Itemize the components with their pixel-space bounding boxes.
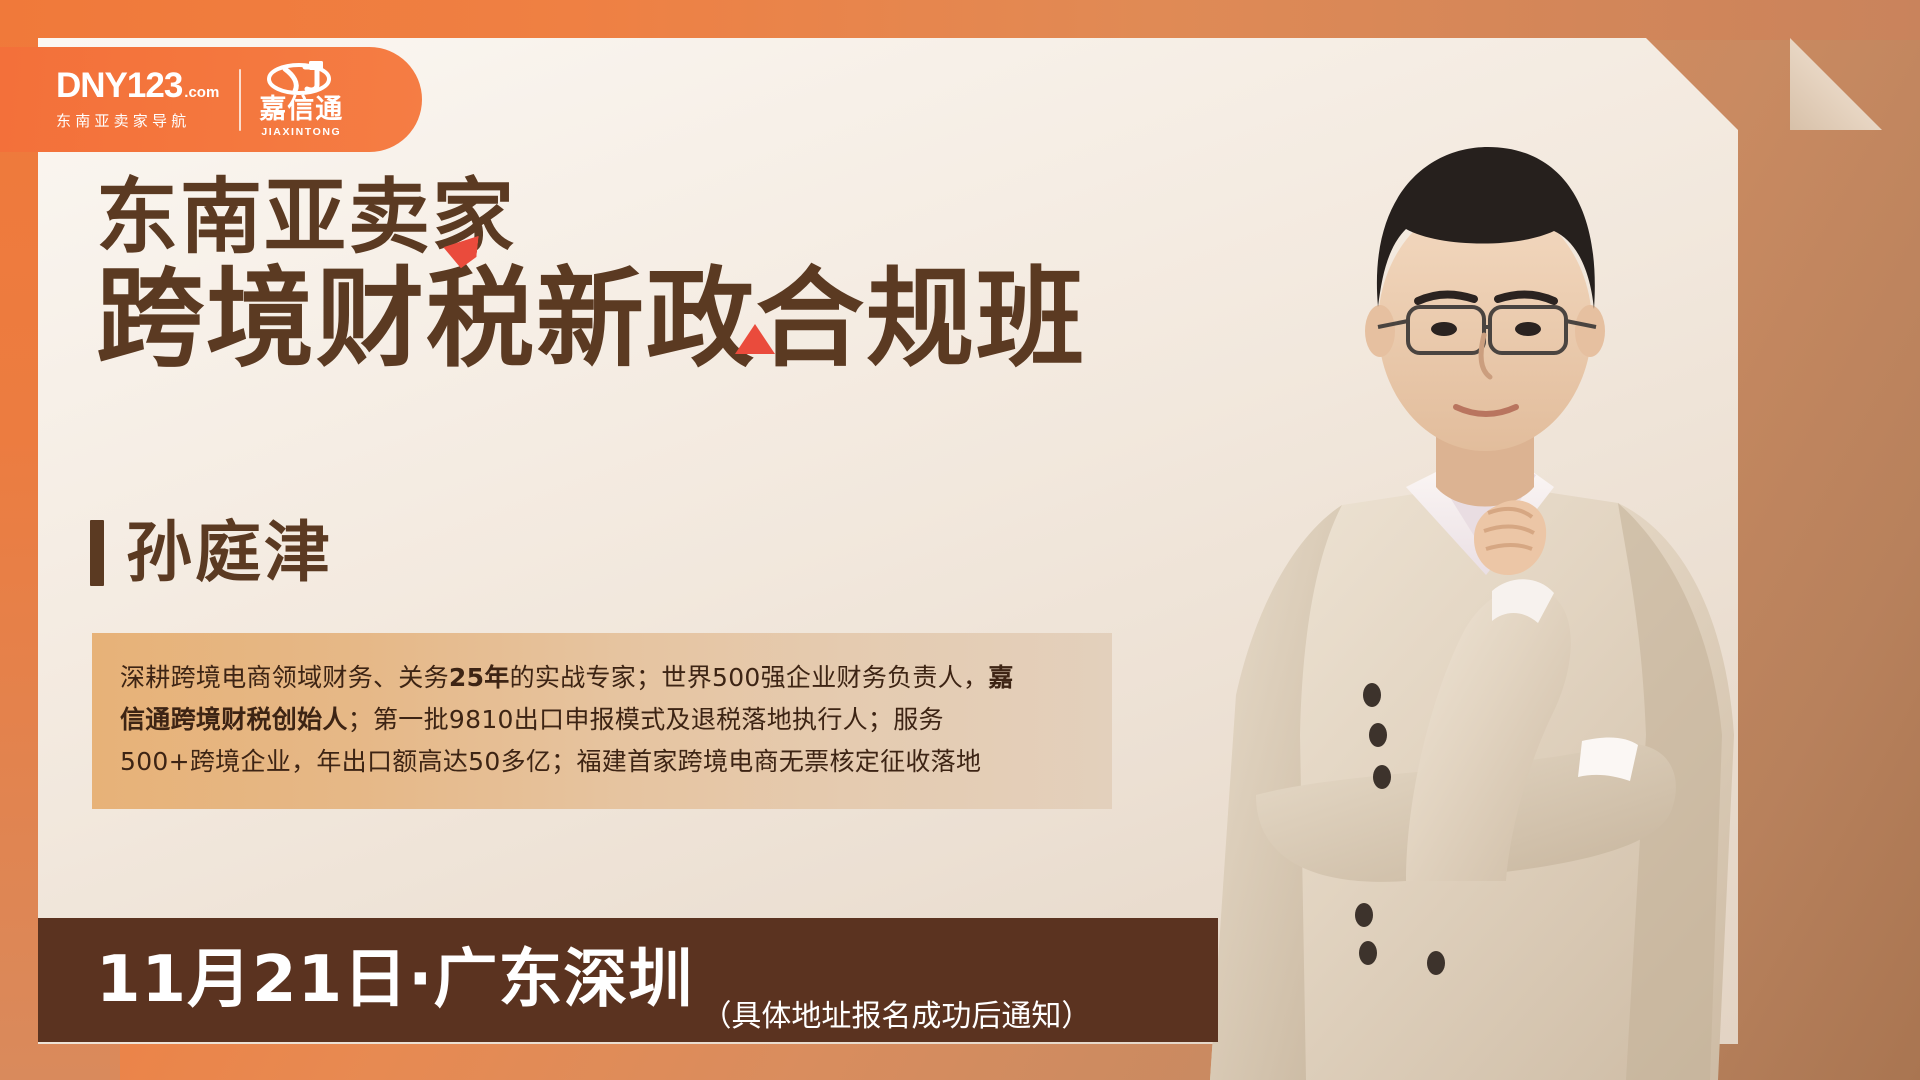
brand-logo-badge[interactable]: DNY123.com 东南亚卖家导航 嘉信通 JIAXINTONG [0, 47, 422, 152]
headline-line-1: 东南亚卖家 [96, 176, 1086, 258]
bio-line-1: 深耕跨境电商领域财务、关务25年的实战专家；世界500强企业财务负责人，嘉 [120, 657, 1084, 699]
jiaxintong-logo: 嘉信通 JIAXINTONG [259, 61, 343, 138]
jiaxintong-mark-icon [265, 61, 337, 95]
dny123-name: DNY123 [56, 68, 182, 103]
headline-line-2-text: 跨境财税新政合规班 [96, 256, 1086, 382]
bio-line-3: 500+跨境企业，年出口额高达50多亿；福建首家跨境电商无票核定征收落地 [120, 741, 1084, 783]
bio-1d-highlight: 嘉 [988, 663, 1013, 692]
speaker-bio-box: 深耕跨境电商领域财务、关务25年的实战专家；世界500强企业财务负责人，嘉 信通… [92, 633, 1112, 809]
jiaxintong-pinyin: JIAXINTONG [261, 126, 341, 138]
folded-corner-decoration [1790, 38, 1882, 130]
dny123-logo: DNY123.com 东南亚卖家导航 [56, 68, 219, 131]
bio-2b: ；第一批9810出口申报模式及退税落地执行人；服务 [348, 705, 944, 734]
dny123-tagline: 东南亚卖家导航 [56, 110, 219, 131]
bio-1c: 的实战专家；世界500强企业财务负责人， [510, 663, 989, 692]
speaker-accent-bar [90, 520, 104, 586]
speaker-name-group: 孙庭津 [90, 520, 333, 586]
headline-group: 东南亚卖家 跨境财税新政合规班 [96, 176, 1086, 376]
jiaxintong-name: 嘉信通 [259, 96, 343, 123]
dny123-domain-suffix: .com [184, 85, 219, 100]
dny123-wordmark: DNY123.com [56, 68, 219, 103]
bio-1b-highlight: 25年 [449, 663, 510, 692]
promo-banner: DNY123.com 东南亚卖家导航 嘉信通 JIAXINTONG 东南亚卖家 [0, 0, 1920, 1080]
bio-line-2: 信通跨境财税创始人；第一批9810出口申报模式及退税落地执行人；服务 [120, 699, 1084, 741]
bio-1a: 深耕跨境电商领域财务、关务 [120, 663, 449, 692]
bio-3: 500+跨境企业，年出口额高达50多亿；福建首家跨境电商无票核定征收落地 [120, 747, 981, 776]
top-orange-band [0, 0, 1920, 40]
logo-divider [239, 69, 241, 131]
speaker-name: 孙庭津 [126, 520, 333, 586]
bio-2a-highlight: 信通跨境财税创始人 [120, 705, 348, 734]
event-address-note: （具体地址报名成功后通知） [701, 1002, 1091, 1032]
event-date-bar: 11月21日·广东深圳 （具体地址报名成功后通知） [38, 918, 1218, 1042]
headline-line-2: 跨境财税新政合规班 [96, 262, 1086, 376]
event-date-location: 11月21日·广东深圳 [96, 948, 693, 1012]
